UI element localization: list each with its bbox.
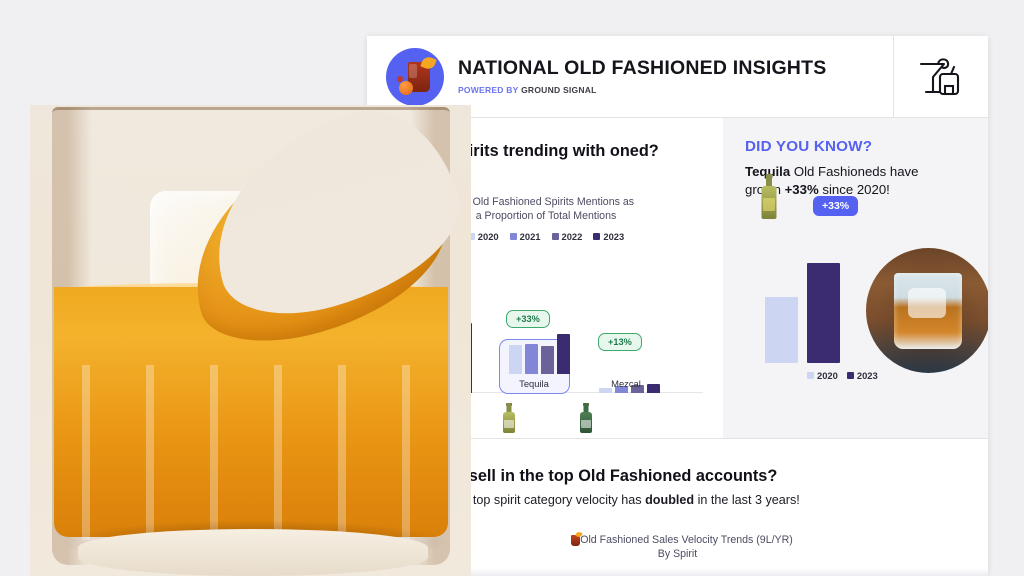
- did-you-know-heading: DID YOU KNOW?: [745, 138, 872, 155]
- martini-and-highball-glasses-icon: [918, 56, 964, 98]
- legend-item-2020: 2020: [468, 231, 499, 242]
- header-text-block: NATIONAL OLD FASHIONED INSIGHTS POWERED …: [458, 58, 826, 94]
- powered-by-prefix: POWERED BY: [458, 85, 518, 95]
- tequila-bottle-icon: [509, 403, 525, 433]
- powered-by-line: POWERED BY GROUND SIGNAL: [458, 85, 826, 95]
- legend-item-2022: 2022: [552, 231, 583, 242]
- bar-tequila-2023: [557, 334, 570, 374]
- x-label-tequila: Tequila: [497, 378, 571, 389]
- old-fashioned-in-tumbler-photo: [866, 248, 988, 373]
- mezcal-bottle-icon: [586, 403, 602, 433]
- tequila-bottle-icon-large: [769, 174, 787, 219]
- sales-sub-post: in the last 3 years!: [694, 493, 800, 507]
- mini-legend-2020: 2020: [807, 370, 838, 381]
- screenshot-root: NATIONAL OLD FASHIONED INSIGHTS POWERED …: [0, 0, 1024, 576]
- old-fashioned-cocktail-logo-icon: [386, 48, 444, 106]
- sales-sub-bold: doubled: [645, 493, 694, 507]
- tequila-growth-chart: 2020 2023: [765, 263, 853, 381]
- powered-by-brand: GROUND SIGNAL: [521, 85, 597, 95]
- old-fashioned-cocktail-photo: [30, 105, 471, 576]
- legend-item-2021: 2021: [510, 231, 541, 242]
- bar-group-mezcal: [599, 278, 660, 393]
- bar-tequila-2022: [541, 346, 554, 374]
- page-title: NATIONAL OLD FASHIONED INSIGHTS: [458, 58, 826, 79]
- old-fashioned-glass-icon: [562, 532, 575, 546]
- tequila-growth-legend: 2020 2023: [807, 370, 878, 381]
- dyk-bold-pct: +33%: [785, 182, 819, 197]
- bar-tequila-2020: [509, 345, 522, 374]
- growth-badge-tequila: +33%: [813, 196, 858, 216]
- mini-legend-2023: 2023: [847, 370, 878, 381]
- header-icon-cell: [893, 36, 988, 117]
- legend-item-2023: 2023: [593, 231, 624, 242]
- mini-bar-2020: [765, 297, 798, 363]
- bar-group-tequila: [509, 259, 570, 374]
- bar-tequila-2021: [525, 344, 538, 374]
- mini-bar-2023: [807, 263, 840, 363]
- x-label-mezcal: Mezcal: [587, 378, 665, 389]
- did-you-know-panel: DID YOU KNOW? Tequila Old Fashioneds hav…: [723, 118, 988, 438]
- dyk-end-text: since 2020!: [819, 182, 890, 197]
